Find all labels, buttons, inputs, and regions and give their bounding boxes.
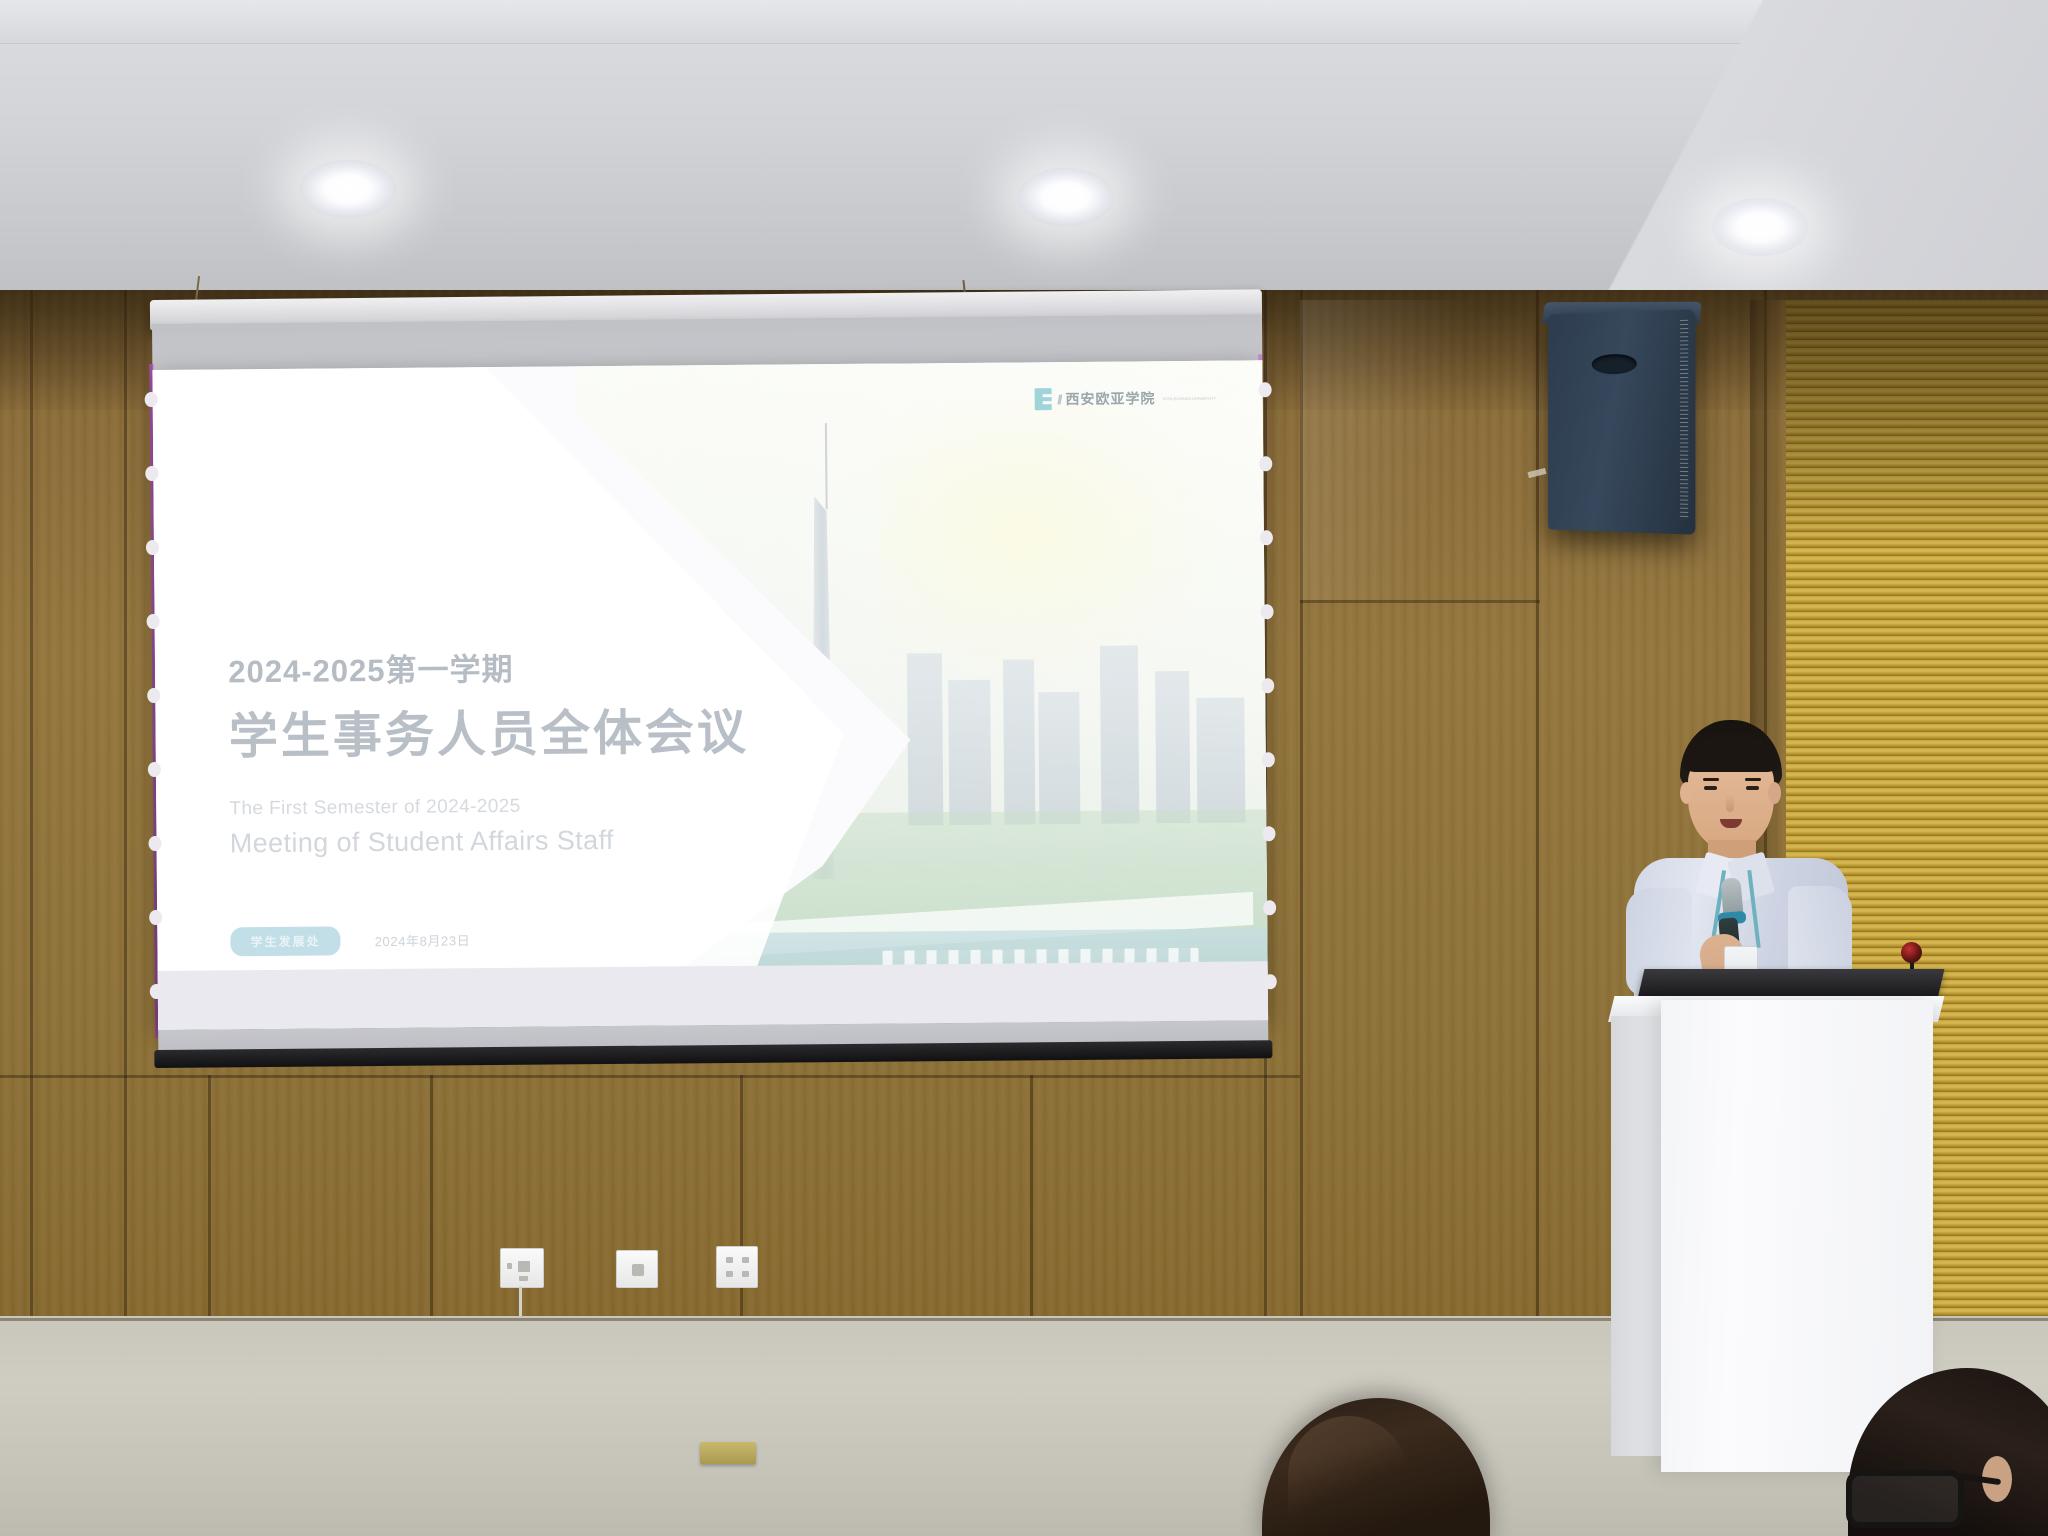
wall-seam — [1030, 1075, 1033, 1320]
presenter-eyebrow-right — [1745, 778, 1761, 781]
slide-photo-sky — [877, 400, 1237, 694]
presenter-ear-left — [1680, 782, 1693, 804]
ceiling-downlight-3-icon — [1712, 198, 1808, 256]
ceiling-downlight-1-icon — [300, 160, 396, 218]
slide-university-logo: // 西安欧亚学院 XI'AN EURASIA UNIVERSITY — [1035, 387, 1216, 411]
eurasia-e-mark-icon — [1035, 389, 1052, 411]
wall-seam — [124, 290, 127, 1320]
wall-seam — [0, 1075, 1300, 1078]
signal-socket — [616, 1250, 658, 1288]
slide-date: 2024年8月23日 — [375, 930, 471, 950]
wall-seam — [30, 290, 33, 1320]
podium-side-panel — [1611, 1016, 1663, 1456]
ceiling-downlight-2-icon — [1018, 168, 1114, 226]
logo-slash-icon: // — [1057, 392, 1060, 407]
slide-english-line-1: The First Semester of 2024-2025 — [229, 794, 749, 821]
presenter-ear-right — [1768, 782, 1781, 804]
slide-title-block: 2024-2025第一学期 学生事务人员全体会议 The First Semes… — [228, 642, 750, 860]
logo-university-name-cn: 西安欧亚学院 — [1065, 389, 1155, 410]
presentation-slide: // 西安欧亚学院 XI'AN EURASIA UNIVERSITY 2024-… — [152, 360, 1268, 1030]
data-socket — [716, 1246, 758, 1288]
floor-outlet-plate — [700, 1442, 756, 1464]
wall-seam — [1300, 600, 1540, 603]
presenter-nose — [1726, 794, 1734, 812]
presenter-eye-right — [1746, 786, 1759, 790]
pa-speaker — [1548, 309, 1695, 534]
slide-english-line-2: Meeting of Student Affairs Staff — [230, 824, 750, 860]
wall-sheen — [1300, 300, 1540, 600]
wall-seam — [208, 1075, 211, 1320]
conference-hall-photo: // 西安欧亚学院 XI'AN EURASIA UNIVERSITY 2024-… — [0, 0, 2048, 1536]
podium-reading-ledge — [1638, 969, 1945, 999]
ribbed-panel-shadow — [1786, 300, 2048, 550]
power-socket — [500, 1248, 544, 1288]
slide-photo-building — [1038, 692, 1080, 824]
projection-screen: // 西安欧亚学院 XI'AN EURASIA UNIVERSITY 2024-… — [152, 314, 1268, 1064]
podium-gooseneck-microphone-head-icon — [1901, 942, 1922, 963]
slide-photo-building — [907, 654, 943, 826]
presenter-eyebrow-left — [1703, 778, 1719, 781]
slide-photo-building — [949, 680, 992, 826]
slide-photo-building — [1003, 659, 1035, 824]
screen-projection-area: // 西安欧亚学院 XI'AN EURASIA UNIVERSITY 2024-… — [152, 360, 1268, 1030]
slide-photo-building — [1196, 697, 1245, 823]
pa-speaker-handle — [1592, 354, 1637, 375]
presenter-eye-left — [1704, 786, 1717, 790]
slide-footer: 学生发展处 2024年8月23日 — [231, 925, 471, 956]
eyeglasses-icon — [1846, 1470, 1964, 1528]
wall-seam — [430, 1075, 433, 1320]
slide-photo-building — [1100, 645, 1139, 824]
slide-semester-line: 2024-2025第一学期 — [228, 642, 748, 692]
slide-department-badge: 学生发展处 — [231, 926, 341, 956]
slide-main-title: 学生事务人员全体会议 — [229, 693, 750, 769]
pa-speaker-grille — [1680, 320, 1688, 520]
logo-university-name-en: XI'AN EURASIA UNIVERSITY — [1162, 396, 1216, 401]
slide-bottom-band — [158, 961, 1268, 1030]
slide-photo-building — [1155, 671, 1191, 823]
slide-photo-tower-mast — [825, 424, 828, 510]
